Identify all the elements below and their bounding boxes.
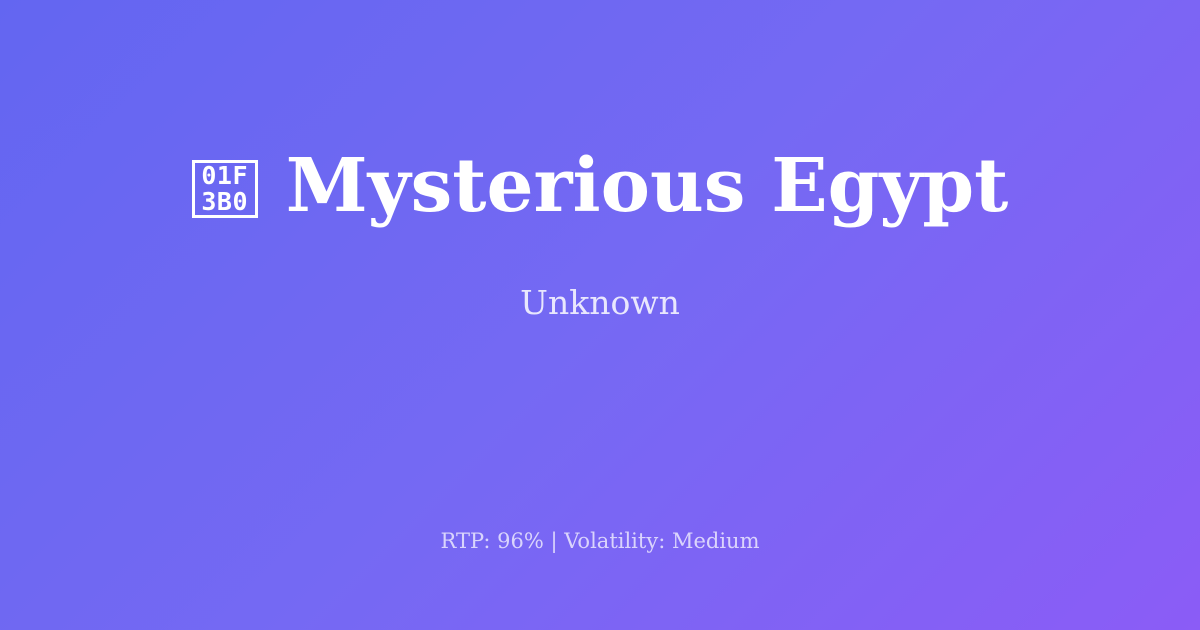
tofu-codepoint-top: 01F [201, 163, 248, 189]
page-title: Mysterious Egypt [286, 147, 1009, 227]
card-footer: RTP: 96% | Volatility: Medium [0, 528, 1200, 555]
game-meta-line: RTP: 96% | Volatility: Medium [441, 528, 760, 555]
card-center-stack: 01F 3B0 Mysterious Egypt Unknown [0, 0, 1200, 470]
slot-machine-emoji-tofu-icon: 01F 3B0 [192, 160, 258, 218]
og-share-card: 01F 3B0 Mysterious Egypt Unknown RTP: 96… [0, 0, 1200, 630]
title-row: 01F 3B0 Mysterious Egypt [192, 147, 1009, 227]
tofu-codepoint-bottom: 3B0 [201, 189, 248, 215]
card-subtitle: Unknown [520, 283, 680, 323]
